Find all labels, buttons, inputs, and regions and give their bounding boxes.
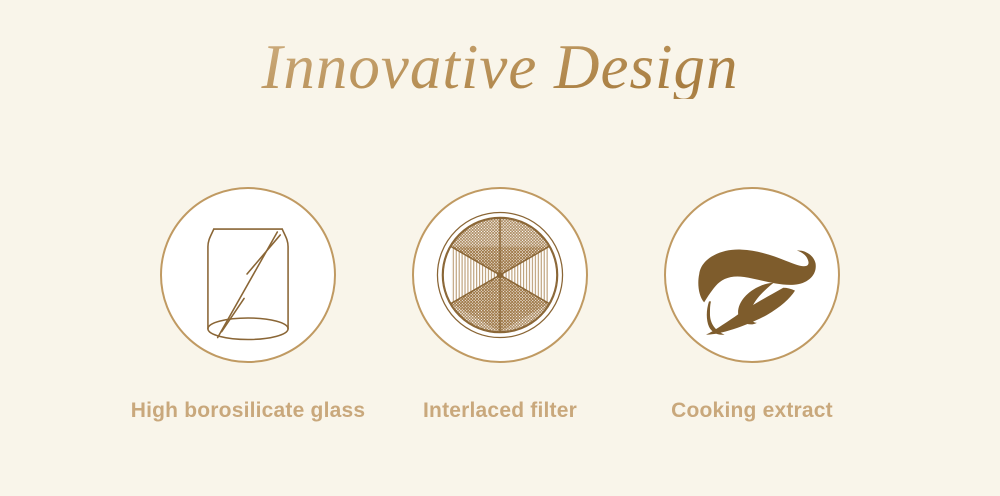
feature-icon-circle: [412, 187, 588, 363]
feature-label-glass: High borosilicate glass: [131, 399, 366, 423]
feature-item-glass[interactable]: High borosilicate glass: [122, 187, 374, 423]
feature-icon-circle: [664, 187, 840, 363]
feature-label-extract: Cooking extract: [671, 399, 833, 423]
steam-swirl-icon: [666, 187, 838, 363]
page-title: Innovative Design: [0, 36, 1000, 99]
filter-center-hub: [497, 272, 503, 278]
feature-item-filter[interactable]: Interlaced filter: [374, 187, 626, 423]
interlaced-filter-mesh-icon: [414, 187, 586, 363]
feature-item-extract[interactable]: Cooking extract: [626, 187, 878, 423]
feature-icon-circle: [160, 187, 336, 363]
innovative-design-banner: Innovative Design: [0, 0, 1000, 496]
glass-beaker-icon: [162, 187, 334, 363]
feature-list: High borosilicate glass: [0, 187, 1000, 423]
feature-label-filter: Interlaced filter: [423, 399, 577, 423]
